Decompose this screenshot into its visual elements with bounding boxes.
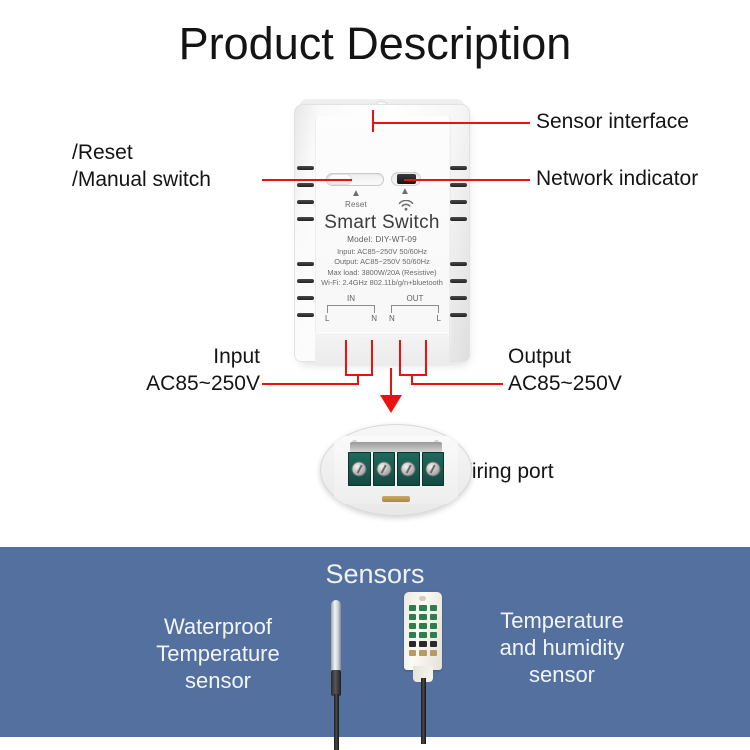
th-sensor-vent-grid [409,605,437,657]
leader-sensor-interface [372,122,530,124]
probe-metal-tip [331,600,341,674]
th-sensor-vent-cell [409,614,416,620]
th-sensor-vent-cell [409,605,416,611]
product-description-page: Product Description [0,0,750,750]
callout-output-line2: AC85~250V [508,370,688,397]
sensor-caption-temp-humidity-line3: sensor [452,661,672,688]
probe-collar [331,670,341,696]
probe-cable [334,694,339,750]
down-arrow-icon [380,395,402,413]
caret-up-icon-reset: ▲ [351,189,361,199]
th-sensor-vent-cell [430,614,437,620]
callout-input-line2: AC85~250V [110,370,260,397]
leader-input-prong-left [345,340,347,376]
device-foot-panel [315,332,449,366]
terminal-in-pin-1: L [325,314,329,323]
wifi-icon [398,198,414,209]
terminal-cell[interactable] [348,452,371,486]
device-brand-name: Smart Switch [294,212,470,234]
th-sensor-body [404,592,442,670]
leader-input [262,383,359,385]
terminal-screw-icon[interactable] [426,463,439,476]
leader-sensor-interface-vertical [372,110,374,132]
device-spec-list: Model: DIY-WT-09 Input: AC85~250V 50/60H… [294,235,470,289]
sensor-caption-waterproof-line2: Temperature [118,640,318,667]
th-sensor-vent-cell [409,641,416,647]
th-sensor-vent-cell [419,614,426,620]
leader-network-indicator [404,179,530,181]
terminal-block [348,452,444,486]
th-sensor-vent-cell [419,650,426,656]
sensor-caption-temp-humidity-line2: and humidity [452,634,672,661]
spec-wifi: Wi-Fi: 2.4GHz 802.11b/g/n+bluetooth [294,278,470,289]
sensor-caption-waterproof: Waterproof Temperature sensor [118,613,318,694]
th-sensor-vent-cell [419,623,426,629]
leader-reset-manual-switch [262,179,352,181]
terminal-out-bracket [391,305,439,313]
terminal-out-title: OUT [386,294,444,304]
wiring-port-lip [350,442,442,452]
terminal-group-in: IN L N [322,294,380,323]
spec-model: Model: DIY-WT-09 [294,235,470,247]
terminal-legend: IN L N OUT N L [294,294,470,334]
th-sensor-vent-cell [430,641,437,647]
terminal-cell[interactable] [422,452,445,486]
callout-output: Output AC85~250V [508,343,688,397]
th-sensor-vent-cell [419,632,426,638]
th-sensor-vent-cell [409,632,416,638]
th-sensor-vent-cell [409,623,416,629]
terminal-screw-icon[interactable] [353,463,366,476]
callout-reset-manual-switch: /Reset /Manual switch [72,139,211,193]
leader-output [411,383,503,385]
leader-wiring-arrow-stem [390,368,392,398]
callout-reset-line2: /Manual switch [72,166,211,193]
th-sensor-vent-cell [430,605,437,611]
sensor-caption-waterproof-line3: sensor [118,667,318,694]
th-sensor-cable [421,678,426,744]
callout-sensor-interface: Sensor interface [536,108,689,135]
terminal-in-pin-2: N [371,314,377,323]
terminal-cell[interactable] [397,452,420,486]
caret-up-icon-wifi: ▲ [400,187,410,197]
th-sensor-vent-cell [430,632,437,638]
th-sensor-vent-cell [419,605,426,611]
spec-input: Input: AC85~250V 50/60Hz [294,247,470,258]
spec-max-load: Max load: 3800W/20A (Resistive) [294,268,470,279]
callout-input-line1: Input [110,343,260,370]
callout-output-line1: Output [508,343,688,370]
wiring-port-label-tab [382,496,410,502]
th-sensor-vent-cell [430,650,437,656]
terminal-in-bracket [327,305,375,313]
sensor-caption-waterproof-line1: Waterproof [118,613,318,640]
callout-input: Input AC85~250V [110,343,260,397]
callout-reset-line1: /Reset [72,139,211,166]
spec-output: Output: AC85~250V 50/60Hz [294,257,470,268]
terminal-cell[interactable] [373,452,396,486]
leader-input-prong-right [371,340,373,376]
callout-network-indicator: Network indicator [536,165,698,192]
terminal-out-pin-1: N [389,314,395,323]
wiring-port-magnifier [320,424,472,516]
th-sensor-mount-hole [419,596,426,601]
smart-switch-device: ▲ Reset ▲ Smart Switch Model: DIY-WT-09 … [294,104,470,366]
terminal-screw-icon[interactable] [402,463,415,476]
reset-label: Reset [334,200,378,209]
leader-input-crossbar [345,374,373,376]
th-sensor-vent-cell [419,641,426,647]
terminal-out-pin-2: L [437,314,441,323]
terminal-group-out: OUT N L [386,294,444,323]
leader-output-prong-left [399,340,401,376]
leader-output-crossbar [399,374,427,376]
th-sensor-vent-cell [409,650,416,656]
sensors-panel: Sensors Waterproof Temperature sensor Te… [0,547,750,737]
sensor-caption-temp-humidity-line1: Temperature [452,607,672,634]
temperature-humidity-sensor [404,592,442,748]
page-title: Product Description [0,18,750,70]
leader-output-prong-right [425,340,427,376]
waterproof-temperature-probe [329,600,343,748]
terminal-screw-icon[interactable] [377,463,390,476]
th-sensor-vent-cell [430,623,437,629]
sensors-title: Sensors [0,559,750,590]
sensor-caption-temp-humidity: Temperature and humidity sensor [452,607,672,688]
terminal-in-title: IN [322,294,380,304]
